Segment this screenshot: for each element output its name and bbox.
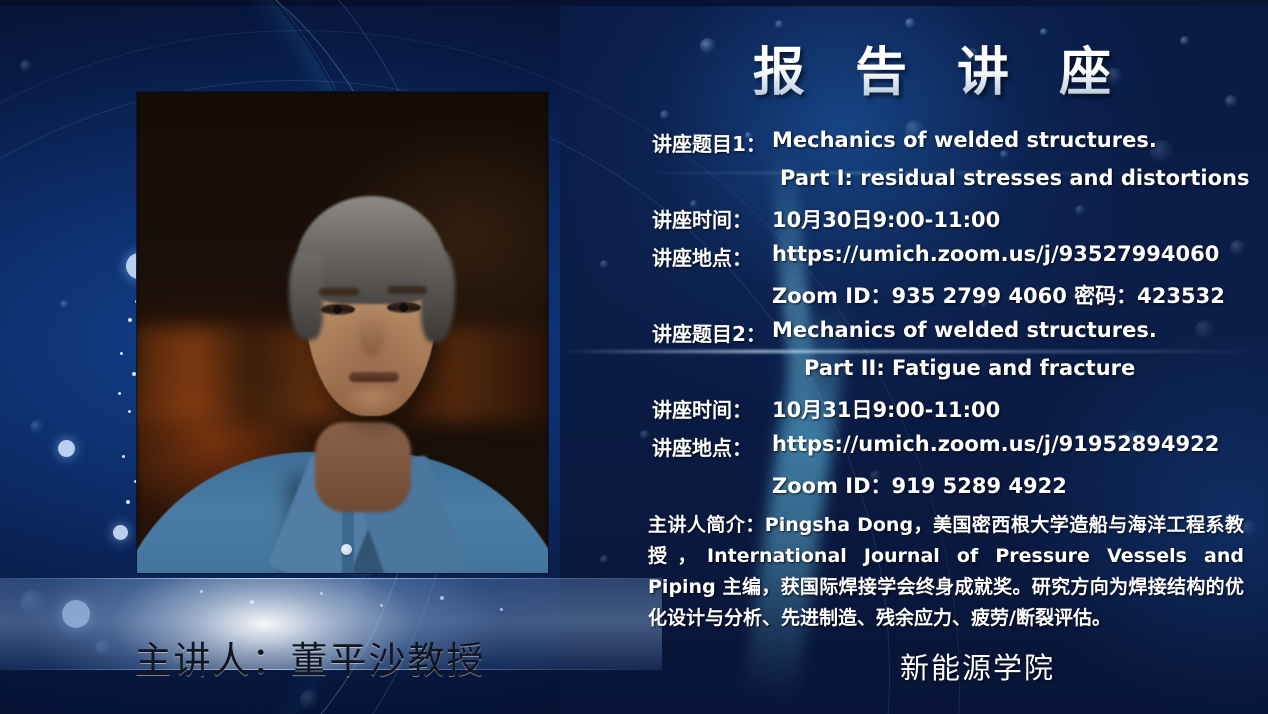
session2-time-value: 10月31日9:00-11:00 bbox=[772, 394, 1000, 424]
organization-label: 新能源学院 bbox=[900, 645, 1200, 687]
page-title: 报 告 讲 座 bbox=[640, 30, 1240, 105]
speaker-bio: 主讲人简介：Pingsha Dong，美国密西根大学造船与海洋工程系教授，Int… bbox=[648, 510, 1244, 634]
session2-time-label: 讲座时间： bbox=[652, 394, 772, 423]
session2-zoom-id: Zoom ID：919 5289 4922 bbox=[772, 470, 1067, 500]
session2-place-row: 讲座地点：https://umich.zoom.us/j/91952894922 bbox=[652, 432, 1252, 470]
session1-topic-part-row: Part I: residual stresses and distortion… bbox=[652, 166, 1252, 204]
session2-place-label: 讲座地点： bbox=[652, 432, 772, 461]
session1-zoom-id: Zoom ID：935 2799 4060 密码：423532 bbox=[772, 280, 1225, 310]
session1-topic-row: 讲座题目1：Mechanics of welded structures. bbox=[652, 128, 1252, 166]
session1-place-link[interactable]: https://umich.zoom.us/j/93527994060 bbox=[772, 242, 1219, 266]
session-details: 讲座题目1：Mechanics of welded structures. Pa… bbox=[652, 128, 1252, 508]
session2-time-row: 讲座时间：10月31日9:00-11:00 bbox=[652, 394, 1252, 432]
session2-topic-row: 讲座题目2：Mechanics of welded structures. bbox=[652, 318, 1252, 356]
session1-zoomid-row: Zoom ID：935 2799 4060 密码：423532 bbox=[652, 280, 1252, 318]
banner-top-divider bbox=[0, 578, 662, 579]
speaker-photo bbox=[137, 92, 548, 573]
session1-time-label: 讲座时间： bbox=[652, 204, 772, 233]
session2-topic-label: 讲座题目2： bbox=[652, 318, 772, 347]
session1-topic-label: 讲座题目1： bbox=[652, 128, 772, 157]
speaker-name-label: 主讲人：董平沙教授 bbox=[0, 630, 620, 684]
session2-zoomid-row: Zoom ID：919 5289 4922 bbox=[652, 470, 1252, 508]
session2-place-link[interactable]: https://umich.zoom.us/j/91952894922 bbox=[772, 432, 1219, 456]
session2-topic-part-row: Part II: Fatigue and fracture bbox=[652, 356, 1252, 394]
session1-topic-value: Mechanics of welded structures. bbox=[772, 128, 1157, 152]
session1-place-row: 讲座地点：https://umich.zoom.us/j/93527994060 bbox=[652, 242, 1252, 280]
session2-topic-value: Mechanics of welded structures. bbox=[772, 318, 1157, 342]
session1-topic-part: Part I: residual stresses and distortion… bbox=[780, 166, 1250, 190]
session1-place-label: 讲座地点： bbox=[652, 242, 772, 271]
seminar-poster: 主讲人：董平沙教授 报 告 讲 座 讲座题目1：Mechanics of wel… bbox=[0, 0, 1268, 714]
session1-time-row: 讲座时间：10月30日9:00-11:00 bbox=[652, 204, 1252, 242]
session2-topic-part: Part II: Fatigue and fracture bbox=[804, 356, 1135, 380]
session1-time-value: 10月30日9:00-11:00 bbox=[772, 204, 1000, 234]
